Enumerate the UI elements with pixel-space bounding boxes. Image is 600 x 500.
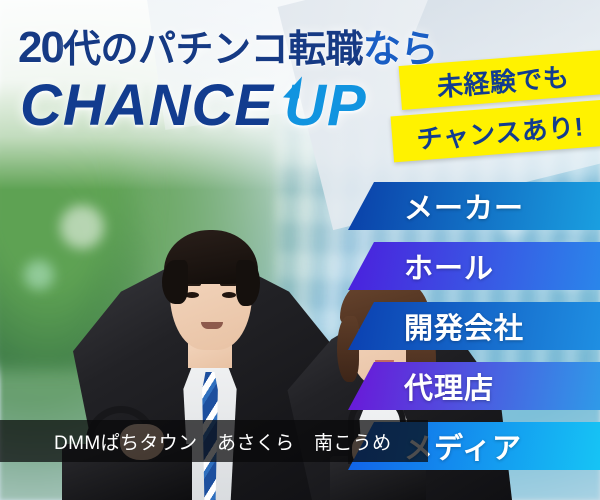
caption-bar: DMMぱちタウン あさくら 南こうめ (0, 420, 428, 462)
bokeh-light (60, 205, 104, 249)
person-man-hair-side (236, 260, 260, 306)
person-man-mouth (201, 322, 223, 329)
logo-accent: UP (284, 72, 367, 139)
category-label: 開発会社 (404, 305, 524, 347)
category-label: 代理店 (404, 365, 494, 407)
chance-up-banner: 20代のパチンコ転職なら CHANCEUP 未経験でも チャンスあり! メーカー… (0, 0, 600, 500)
category-label: メーカー (404, 185, 524, 227)
logo-main: CHANCE (20, 73, 274, 138)
person-man-hair-side (162, 260, 188, 304)
bokeh-light (24, 260, 54, 290)
category-item-hall[interactable]: ホール (348, 242, 600, 290)
category-label: ホール (404, 245, 494, 287)
caption-text: DMMぱちタウン あさくら 南こうめ (54, 428, 392, 455)
logo-chance-up: CHANCEUP (20, 72, 367, 139)
category-item-agency[interactable]: 代理店 (348, 362, 600, 410)
headline-text: 代のパチンコ転職 (63, 29, 363, 71)
category-item-maker[interactable]: メーカー (348, 182, 600, 230)
person-man-eye (222, 292, 236, 298)
category-item-developer[interactable]: 開発会社 (348, 302, 600, 350)
headline-number: 20 (18, 23, 63, 72)
headline: 20代のパチンコ転職なら (18, 18, 438, 73)
